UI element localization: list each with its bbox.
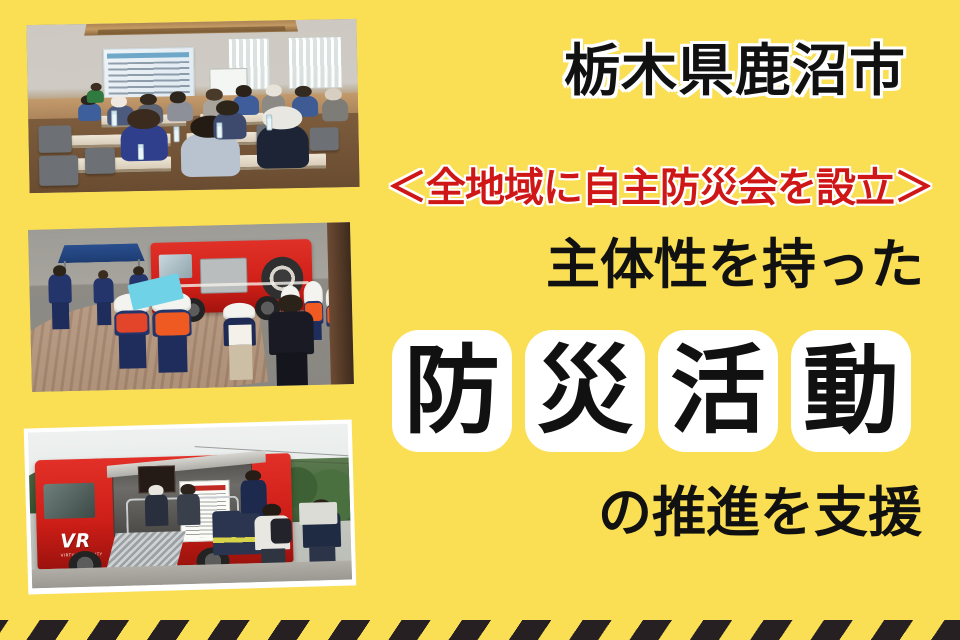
photo-seminar-meeting xyxy=(26,19,359,193)
chair xyxy=(38,125,72,153)
volunteer-legs xyxy=(97,302,112,325)
occupant-torso xyxy=(145,495,168,526)
poster-root: VR VIRTUAL REALITY xyxy=(0,0,960,640)
blue-tent xyxy=(57,243,144,263)
orange-vest xyxy=(155,312,190,335)
photo-seminar-content xyxy=(26,19,359,193)
truck-cab-window xyxy=(43,483,95,519)
parked-van xyxy=(299,502,338,525)
orange-vest xyxy=(116,313,148,333)
water-bottle xyxy=(266,115,272,131)
volunteer-torso xyxy=(94,278,114,304)
attendee-head xyxy=(140,93,157,105)
boxed-keyword-row: 防 災 活 動 xyxy=(392,330,911,452)
volunteer-torso xyxy=(48,274,71,304)
participant-legs xyxy=(229,344,253,380)
boxed-char-bou: 防 xyxy=(392,330,512,452)
chair xyxy=(85,148,115,174)
boxed-char-dou: 動 xyxy=(791,330,911,452)
headline-line-1: 主体性を持った xyxy=(380,238,940,292)
page-title: 栃木県鹿沼市 xyxy=(380,44,940,100)
building-pillar xyxy=(327,222,353,385)
chair xyxy=(39,155,79,186)
attendee-head xyxy=(110,96,127,108)
photo-drill-content xyxy=(28,222,354,392)
attendee-head xyxy=(206,89,223,101)
resident-legs xyxy=(277,352,308,385)
hazard-stripe xyxy=(0,620,960,640)
rescuer-legs xyxy=(158,335,188,373)
attendee xyxy=(256,124,310,169)
backpack xyxy=(271,518,292,544)
headline-line-3: の推進を支援 xyxy=(380,486,940,540)
resident-foreground xyxy=(268,294,315,386)
attendee xyxy=(167,101,194,122)
water-bottle xyxy=(138,144,144,160)
photo-vr-disaster-truck: VR VIRTUAL REALITY xyxy=(24,419,357,594)
vr-logo: VR xyxy=(60,532,91,552)
photo-evacuation-drill xyxy=(28,222,354,392)
volunteer-legs xyxy=(52,302,70,330)
attendee-head xyxy=(170,91,187,103)
curtain-icon xyxy=(288,37,342,88)
water-bottle xyxy=(111,111,117,127)
attendee xyxy=(121,123,168,161)
window-right xyxy=(287,36,343,89)
volunteer xyxy=(93,270,114,326)
subtitle-banner: ＜全地域に自主防災会を設立＞ xyxy=(380,166,940,210)
attendee xyxy=(322,98,349,122)
attendee-head xyxy=(127,108,160,129)
water-bottle xyxy=(216,122,222,138)
volunteer-head xyxy=(53,265,66,276)
attendee-head xyxy=(265,84,282,96)
attendee xyxy=(77,103,100,122)
resident-torso xyxy=(268,311,314,356)
boxed-char-sai: 災 xyxy=(525,330,645,452)
fire-engine-equipment-panel xyxy=(199,258,247,294)
resident-participant xyxy=(223,302,257,381)
rescuer-legs xyxy=(119,334,147,369)
attendee-head xyxy=(235,85,252,97)
occupant-torso xyxy=(177,494,200,525)
chair xyxy=(309,127,339,151)
name-bib xyxy=(228,324,252,345)
attendee-head xyxy=(295,85,312,97)
attendee-head xyxy=(325,88,342,100)
bay-occupant xyxy=(177,484,201,525)
volunteer-head xyxy=(133,266,144,276)
water-bottle xyxy=(174,126,180,142)
presenter xyxy=(87,89,104,103)
volunteer xyxy=(48,265,72,330)
bay-occupant xyxy=(145,485,169,526)
photo-vrtruck-content: VR VIRTUAL REALITY xyxy=(28,424,352,589)
boxed-char-katsu: 活 xyxy=(658,330,778,452)
attendee-head xyxy=(216,100,239,116)
